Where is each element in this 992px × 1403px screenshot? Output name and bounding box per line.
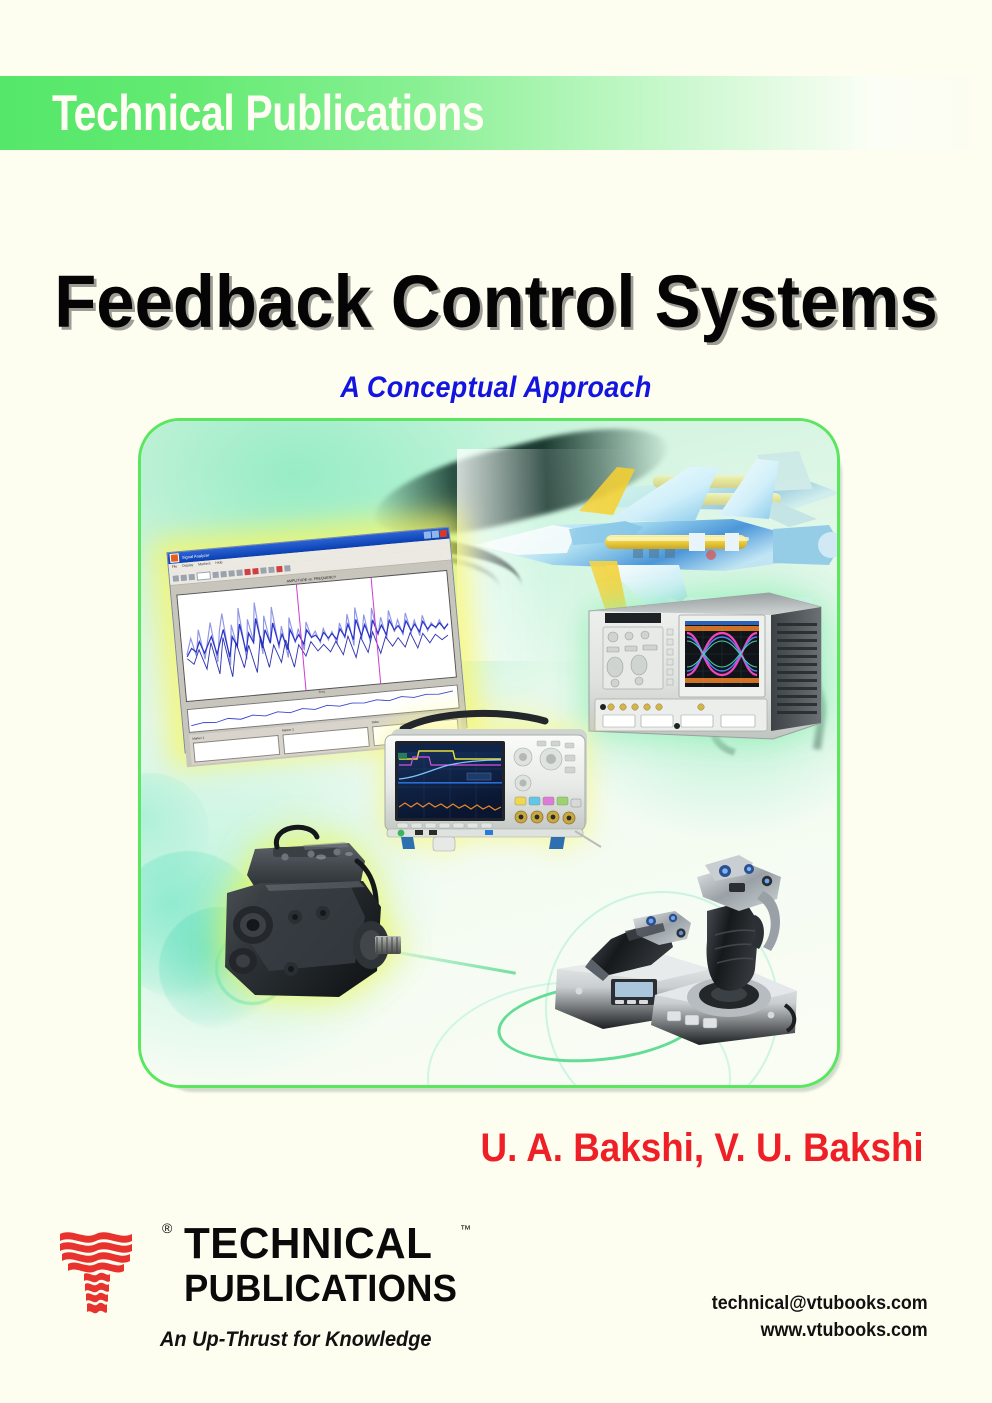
publisher-tagline: An Up-Thrust for Knowledge bbox=[160, 1328, 432, 1352]
toolbar-icon[interactable] bbox=[212, 572, 219, 579]
status-group: Marker 2 bbox=[282, 721, 370, 755]
toolbar-field[interactable] bbox=[196, 571, 211, 580]
toolbar-icon[interactable] bbox=[220, 571, 227, 578]
minimize-button[interactable] bbox=[424, 531, 432, 539]
contact-website[interactable]: www.vtubooks.com bbox=[712, 1317, 928, 1344]
toolbar-icon[interactable] bbox=[236, 569, 243, 576]
toolbar-icon[interactable] bbox=[268, 567, 275, 574]
cover-artwork-panel: Signal Analyzer File Display Markers Hel… bbox=[138, 418, 840, 1088]
publisher-banner-label: Technical Publications bbox=[52, 82, 484, 144]
book-cover: Technical Publications Feedback Control … bbox=[0, 0, 992, 1403]
toolbar-icon[interactable] bbox=[189, 574, 196, 581]
menu-item[interactable]: Help bbox=[215, 560, 223, 568]
book-title: Feedback Control Systems bbox=[35, 262, 958, 342]
hydraulic-pump-motor bbox=[199, 821, 411, 1011]
window-controls[interactable] bbox=[424, 530, 448, 539]
publisher-contact: technical@vtubooks.com www.vtubooks.com bbox=[712, 1290, 928, 1344]
toolbar-icon-record[interactable] bbox=[244, 569, 251, 576]
status-group: Marker 1 bbox=[192, 729, 280, 763]
toolbar-icon[interactable] bbox=[260, 567, 267, 574]
toolbar-icon[interactable] bbox=[173, 575, 180, 582]
publisher-logo: ® TECHNICAL ™ PUBLICATIONS An Up-Thrust … bbox=[58, 1216, 478, 1362]
registered-trademark-icon: ® bbox=[162, 1220, 172, 1236]
toolbar-icon[interactable] bbox=[284, 565, 291, 572]
author-names: U. A. Bakshi, V. U. Bakshi bbox=[481, 1124, 924, 1172]
flight-control-devices bbox=[539, 819, 801, 1045]
toolbar-icon-alert[interactable] bbox=[276, 566, 283, 573]
maximize-button[interactable] bbox=[432, 531, 440, 539]
flight-joystick-control bbox=[651, 855, 797, 1045]
toolbar-icon-marker[interactable] bbox=[252, 568, 259, 575]
publisher-wordmark: TECHNICAL ™ PUBLICATIONS bbox=[184, 1222, 469, 1310]
book-subtitle: A Conceptual Approach bbox=[50, 370, 943, 406]
publisher-name-line1: TECHNICAL bbox=[184, 1222, 457, 1266]
digital-sampling-oscilloscope bbox=[583, 581, 833, 749]
close-button[interactable] bbox=[440, 530, 448, 538]
trademark-icon: ™ bbox=[460, 1224, 471, 1236]
toolbar-icon[interactable] bbox=[181, 575, 188, 582]
publisher-name-line2: PUBLICATIONS bbox=[184, 1268, 457, 1310]
toolbar-icon[interactable] bbox=[228, 570, 235, 577]
menu-item[interactable]: Display bbox=[182, 563, 194, 571]
app-icon bbox=[170, 553, 180, 563]
technical-publications-t-mark-icon bbox=[58, 1218, 162, 1322]
menu-item[interactable]: File bbox=[172, 564, 178, 571]
menu-item[interactable]: Markers bbox=[198, 561, 211, 569]
contact-email[interactable]: technical@vtubooks.com bbox=[712, 1290, 928, 1317]
